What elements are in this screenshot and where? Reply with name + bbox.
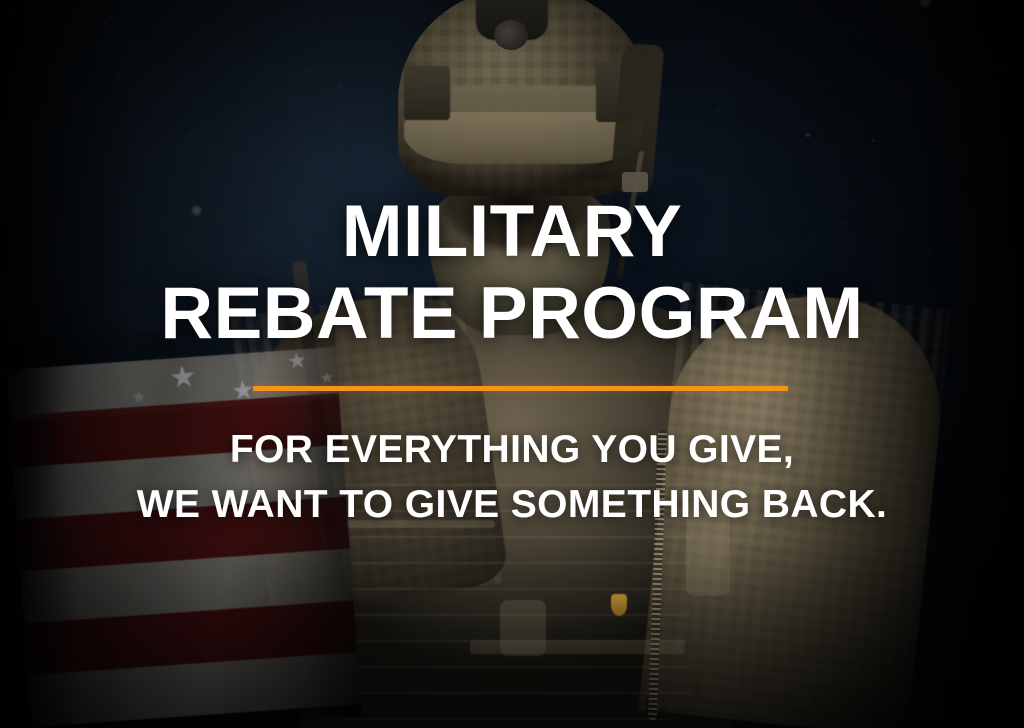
vest-pouch bbox=[500, 600, 546, 656]
flag-star-icon: ★ bbox=[130, 387, 148, 407]
vest-pouch bbox=[686, 500, 730, 596]
military-rebate-hero-banner: ★★★★★ MILITARY REBATE PROGRAM FOR EVERYT… bbox=[0, 0, 1024, 728]
molle-webbing bbox=[330, 470, 690, 720]
night-vision-knob bbox=[494, 20, 528, 50]
flag-star-icon: ★ bbox=[230, 376, 256, 404]
flag-star-icon: ★ bbox=[319, 370, 335, 387]
vest-accessory-tab bbox=[611, 594, 627, 616]
vest-strap bbox=[345, 520, 495, 528]
helmet-id-patch bbox=[622, 172, 648, 192]
helmet-side-rail bbox=[404, 66, 450, 120]
flag-star-icon: ★ bbox=[286, 349, 308, 373]
flag-star-icon: ★ bbox=[168, 362, 198, 395]
